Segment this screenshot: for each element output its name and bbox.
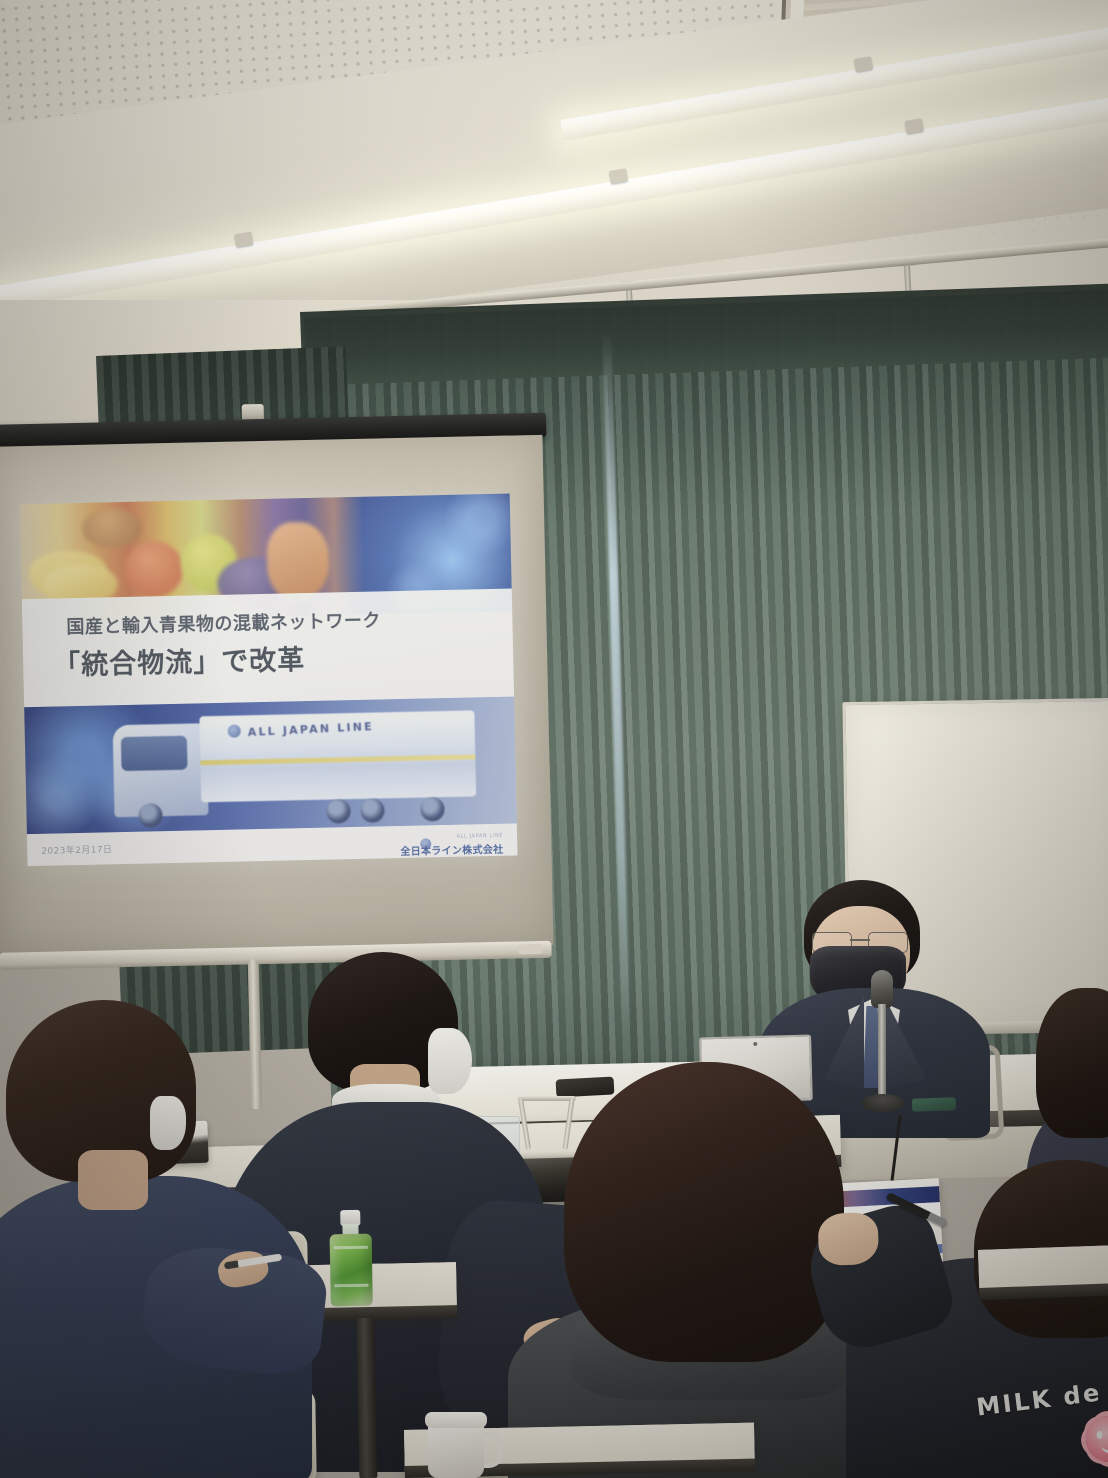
truck-logo-text: ALL JAPAN LINE [247,720,374,739]
mug-lid [425,1412,487,1428]
writing-hand [817,1212,879,1266]
screen-surface: 国産と輸入青果物の混載ネットワーク 「統合物流」で改革 ALL JAPAN LI… [0,435,553,957]
glasses-bridge [850,939,870,941]
slide-company-tagline: ALL JAPAN LINE [400,833,503,841]
mug-body [428,1420,484,1478]
light-clip [905,118,924,134]
long-hair [564,1062,844,1362]
projected-slide: 国産と輸入青果物の混載ネットワーク 「統合物流」で改革 ALL JAPAN LI… [20,494,518,867]
seminar-room-photo: 国産と輸入青果物の混載ネットワーク 「統合物流」で改革 ALL JAPAN LI… [0,0,1108,1478]
slide-company-block: ALL JAPAN LINE 全日本ライン株式会社 [400,833,504,860]
audience-table-right [978,1244,1108,1300]
cow-mascot-icon [1084,1414,1108,1465]
slide-date: 2023年2月17日 [41,842,112,857]
projection-screen: 国産と輸入青果物の混載ネットワーク 「統合物流」で改革 ALL JAPAN LI… [0,413,559,1005]
truck-cab [113,723,209,817]
truck-wheel [420,797,445,822]
mascot-eye-left [1096,1431,1103,1440]
truck-wheel [138,803,163,828]
truck-wheel [326,799,351,824]
truck-wheel [360,798,385,823]
slide-company-name: 全日本ライン株式会社 [400,845,503,858]
bottle-label-line [334,1284,368,1288]
fruit-shape [82,508,143,549]
bottle-label-line [334,1246,368,1250]
microphone-capsule [871,970,893,1008]
audience-person-blue-jacket [0,1000,338,1478]
light-clip [234,232,253,248]
hair [1036,988,1108,1138]
pepper-shape [266,522,330,601]
trailer-stripe [200,754,475,765]
neck [78,1150,148,1210]
slide-truck-photo: ALL JAPAN LINE [24,697,517,835]
table-top [978,1244,1108,1288]
light-clip [609,168,628,184]
mascot-smile [1100,1440,1108,1454]
table-leg [357,1318,378,1478]
light-clip [854,56,873,72]
face-mask-white [428,1028,472,1094]
audience-person-milk-jacket: MILK de [856,1188,1108,1478]
jacket-text: MILK de [975,1378,1103,1421]
tomato-shape [125,541,184,598]
truck-trailer: ALL JAPAN LINE [199,710,476,802]
company-logo-mark-icon [228,724,241,737]
tablet-camera-icon [753,1042,757,1046]
white-mug[interactable] [428,1412,492,1478]
face-mask-edge [150,1096,186,1150]
smartphone-on-desk[interactable] [912,1097,956,1112]
